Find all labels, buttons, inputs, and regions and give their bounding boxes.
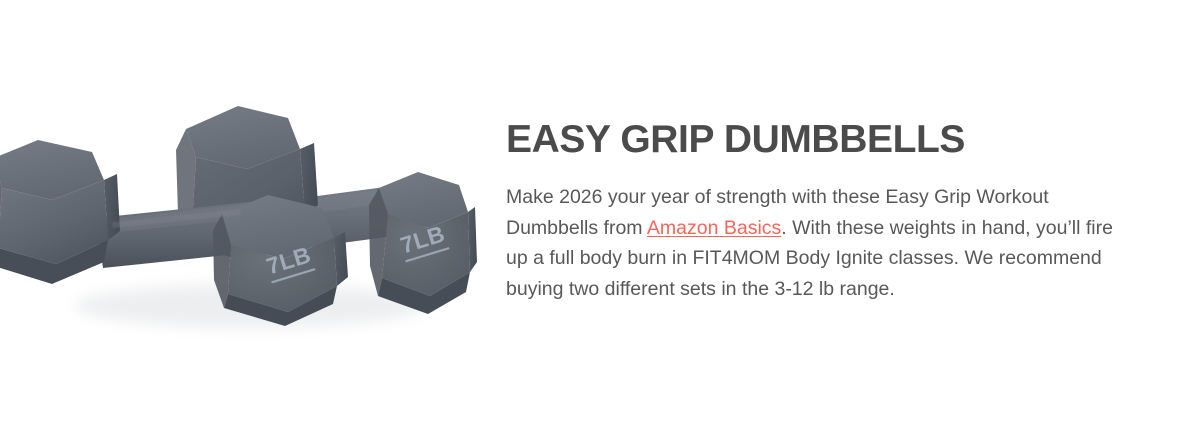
dumbbell-rear-right-head: 7LB <box>369 172 477 314</box>
dumbbell-front-left-head <box>0 140 120 284</box>
product-promo-block: 7LB <box>0 0 1200 439</box>
product-image: 7LB <box>0 0 490 439</box>
promo-description: Make 2026 your year of strength with the… <box>506 182 1131 304</box>
amazon-basics-link[interactable]: Amazon Basics <box>647 217 781 239</box>
promo-copy: EASY GRIP DUMBBELLS Make 2026 your year … <box>506 118 1146 304</box>
page-title: EASY GRIP DUMBBELLS <box>506 118 1146 162</box>
